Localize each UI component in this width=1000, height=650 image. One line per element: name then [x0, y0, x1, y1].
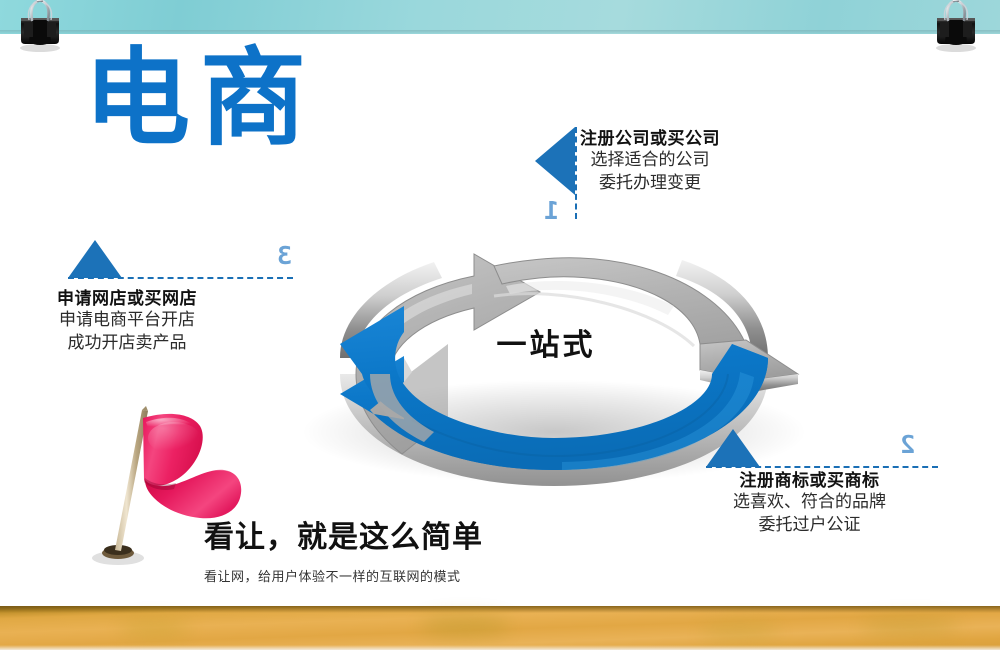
- left-triangle-icon: [535, 127, 575, 195]
- binder-clip-icon: [928, 0, 984, 54]
- tagline-block: 看让，就是这么简单 看让网，给用户体验不一样的互联网的模式: [204, 512, 483, 585]
- up-triangle-icon: [706, 429, 760, 467]
- step-1-connector: [575, 127, 577, 219]
- step-3-heading: 申请网店或买网店: [57, 284, 197, 309]
- step-2-line-2: 委托过户公证: [733, 514, 886, 537]
- step-2-number: 2: [900, 430, 915, 459]
- step-3-callout: 申请网店或买网店 申请电商平台开店 成功开店卖产品: [57, 284, 197, 356]
- slide-canvas: 电商: [0, 0, 1000, 650]
- top-sky-band: [0, 0, 1000, 34]
- step-3-line-1: 申请电商平台开店: [57, 309, 197, 332]
- bottom-field-band: [0, 606, 1000, 650]
- step-2-callout: 注册商标或买商标 选喜欢、符合的品牌 委托过户公证: [733, 466, 886, 538]
- tagline-sub: 看让网，给用户体验不一样的互联网的模式: [204, 566, 483, 585]
- step-3-connector: [68, 277, 293, 279]
- binder-clip-icon: [12, 0, 68, 54]
- step-1-line-1: 选择适合的公司: [580, 149, 720, 172]
- step-1-heading: 注册公司或买公司: [580, 124, 720, 149]
- step-1-callout: 注册公司或买公司 选择适合的公司 委托办理变更: [580, 124, 720, 196]
- field-blotch: [120, 620, 190, 638]
- step-3-number: 3: [277, 241, 292, 270]
- step-2-heading: 注册商标或买商标: [733, 466, 886, 491]
- page-title: 电商: [84, 46, 316, 152]
- field-blotch: [860, 618, 960, 634]
- field-blotch: [700, 622, 780, 640]
- step-2-line-1: 选喜欢、符合的品牌: [733, 491, 886, 514]
- field-blotch: [420, 616, 510, 636]
- step-3-line-2: 成功开店卖产品: [57, 332, 197, 355]
- up-triangle-icon: [68, 240, 122, 278]
- tagline-headline: 看让，就是这么简单: [204, 512, 483, 556]
- step-1-number: 1: [544, 196, 559, 225]
- step-1-line-2: 委托办理变更: [580, 172, 720, 195]
